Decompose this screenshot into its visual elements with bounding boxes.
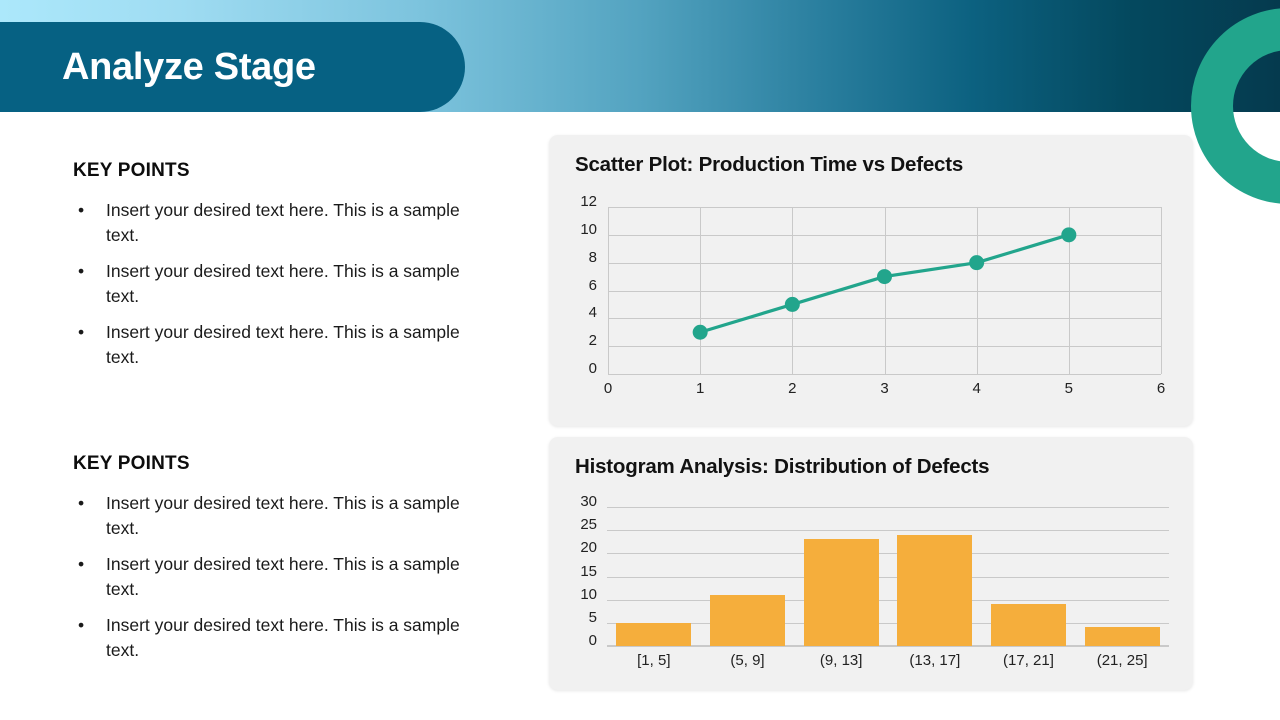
bullet-icon: • bbox=[78, 198, 84, 223]
y-axis-tick-label: 25 bbox=[559, 517, 597, 532]
list-item: • Insert your desired text here. This is… bbox=[73, 198, 476, 248]
histogram-bar bbox=[991, 604, 1066, 646]
scatter-chart-title: Scatter Plot: Production Time vs Defects bbox=[575, 153, 963, 177]
page-title: Analyze Stage bbox=[62, 43, 316, 91]
x-axis-tick-label: 6 bbox=[1141, 381, 1181, 396]
list-item-text: Insert your desired text here. This is a… bbox=[106, 554, 460, 599]
x-axis-category-label: (9, 13] bbox=[794, 653, 888, 668]
list-item: • Insert your desired text here. This is… bbox=[73, 491, 476, 541]
histogram-bar bbox=[710, 595, 785, 646]
histogram-bar bbox=[897, 535, 972, 646]
y-axis-tick-label: 8 bbox=[563, 250, 597, 265]
key-points-block-2: KEY POINTS • Insert your desired text he… bbox=[73, 453, 493, 674]
histogram-plot-area bbox=[607, 507, 1169, 646]
data-point-marker bbox=[693, 325, 708, 340]
y-axis-tick-label: 0 bbox=[559, 633, 597, 648]
gridline-vertical bbox=[1161, 207, 1162, 374]
x-axis-tick-label: 0 bbox=[588, 381, 628, 396]
list-item-text: Insert your desired text here. This is a… bbox=[106, 615, 460, 660]
key-points-list: • Insert your desired text here. This is… bbox=[73, 491, 493, 663]
x-axis-tick-label: 2 bbox=[772, 381, 812, 396]
histogram-bar bbox=[616, 623, 691, 646]
key-points-heading: KEY POINTS bbox=[73, 453, 493, 475]
list-item-text: Insert your desired text here. This is a… bbox=[106, 322, 460, 367]
scatter-chart-card: Scatter Plot: Production Time vs Defects… bbox=[549, 135, 1193, 426]
list-item-text: Insert your desired text here. This is a… bbox=[106, 261, 460, 306]
bullet-icon: • bbox=[78, 320, 84, 345]
x-axis-tick-label: 5 bbox=[1049, 381, 1089, 396]
list-item: • Insert your desired text here. This is… bbox=[73, 320, 476, 370]
bullet-icon: • bbox=[78, 552, 84, 577]
list-item: • Insert your desired text here. This is… bbox=[73, 552, 476, 602]
y-axis-tick-label: 2 bbox=[563, 333, 597, 348]
x-axis-category-label: (21, 25] bbox=[1075, 653, 1169, 668]
bullet-icon: • bbox=[78, 613, 84, 638]
gridline-horizontal bbox=[607, 507, 1169, 508]
y-axis-tick-label: 0 bbox=[563, 361, 597, 376]
y-axis-tick-label: 10 bbox=[559, 587, 597, 602]
list-item: • Insert your desired text here. This is… bbox=[73, 613, 476, 663]
y-axis-tick-label: 10 bbox=[563, 222, 597, 237]
data-point-marker bbox=[877, 269, 892, 284]
list-item-text: Insert your desired text here. This is a… bbox=[106, 200, 460, 245]
y-axis-tick-label: 6 bbox=[563, 278, 597, 293]
key-points-list: • Insert your desired text here. This is… bbox=[73, 198, 493, 370]
y-axis-tick-label: 12 bbox=[563, 194, 597, 209]
histogram-chart-title: Histogram Analysis: Distribution of Defe… bbox=[575, 455, 989, 479]
scatter-series bbox=[608, 200, 1161, 381]
histogram-bar bbox=[1085, 627, 1160, 646]
gridline-horizontal bbox=[607, 600, 1169, 601]
histogram-bar bbox=[804, 539, 879, 646]
x-axis-category-label: (13, 17] bbox=[888, 653, 982, 668]
histogram-chart-card: Histogram Analysis: Distribution of Defe… bbox=[549, 437, 1193, 690]
gridline-horizontal bbox=[607, 553, 1169, 554]
y-axis-tick-label: 20 bbox=[559, 540, 597, 555]
y-axis-tick-label: 15 bbox=[559, 564, 597, 579]
x-axis-tick-label: 1 bbox=[680, 381, 720, 396]
gridline-horizontal bbox=[607, 577, 1169, 578]
key-points-heading: KEY POINTS bbox=[73, 160, 493, 182]
x-axis-category-label: [1, 5] bbox=[607, 653, 701, 668]
x-axis-category-label: (5, 9] bbox=[701, 653, 795, 668]
x-axis-category-label: (17, 21] bbox=[982, 653, 1076, 668]
gridline-horizontal bbox=[607, 646, 1169, 647]
x-axis-tick-label: 4 bbox=[957, 381, 997, 396]
gridline-horizontal bbox=[607, 530, 1169, 531]
bullet-icon: • bbox=[78, 259, 84, 284]
list-item-text: Insert your desired text here. This is a… bbox=[106, 493, 460, 538]
data-point-marker bbox=[1061, 227, 1076, 242]
y-axis-tick-label: 30 bbox=[559, 494, 597, 509]
gridline-horizontal bbox=[607, 623, 1169, 624]
x-axis-tick-label: 3 bbox=[865, 381, 905, 396]
y-axis-tick-label: 5 bbox=[559, 610, 597, 625]
y-axis-tick-label: 4 bbox=[563, 305, 597, 320]
list-item: • Insert your desired text here. This is… bbox=[73, 259, 476, 309]
bullet-icon: • bbox=[78, 491, 84, 516]
data-point-marker bbox=[969, 255, 984, 270]
scatter-plot-area bbox=[608, 207, 1161, 374]
data-point-marker bbox=[785, 297, 800, 312]
key-points-block-1: KEY POINTS • Insert your desired text he… bbox=[73, 160, 493, 381]
